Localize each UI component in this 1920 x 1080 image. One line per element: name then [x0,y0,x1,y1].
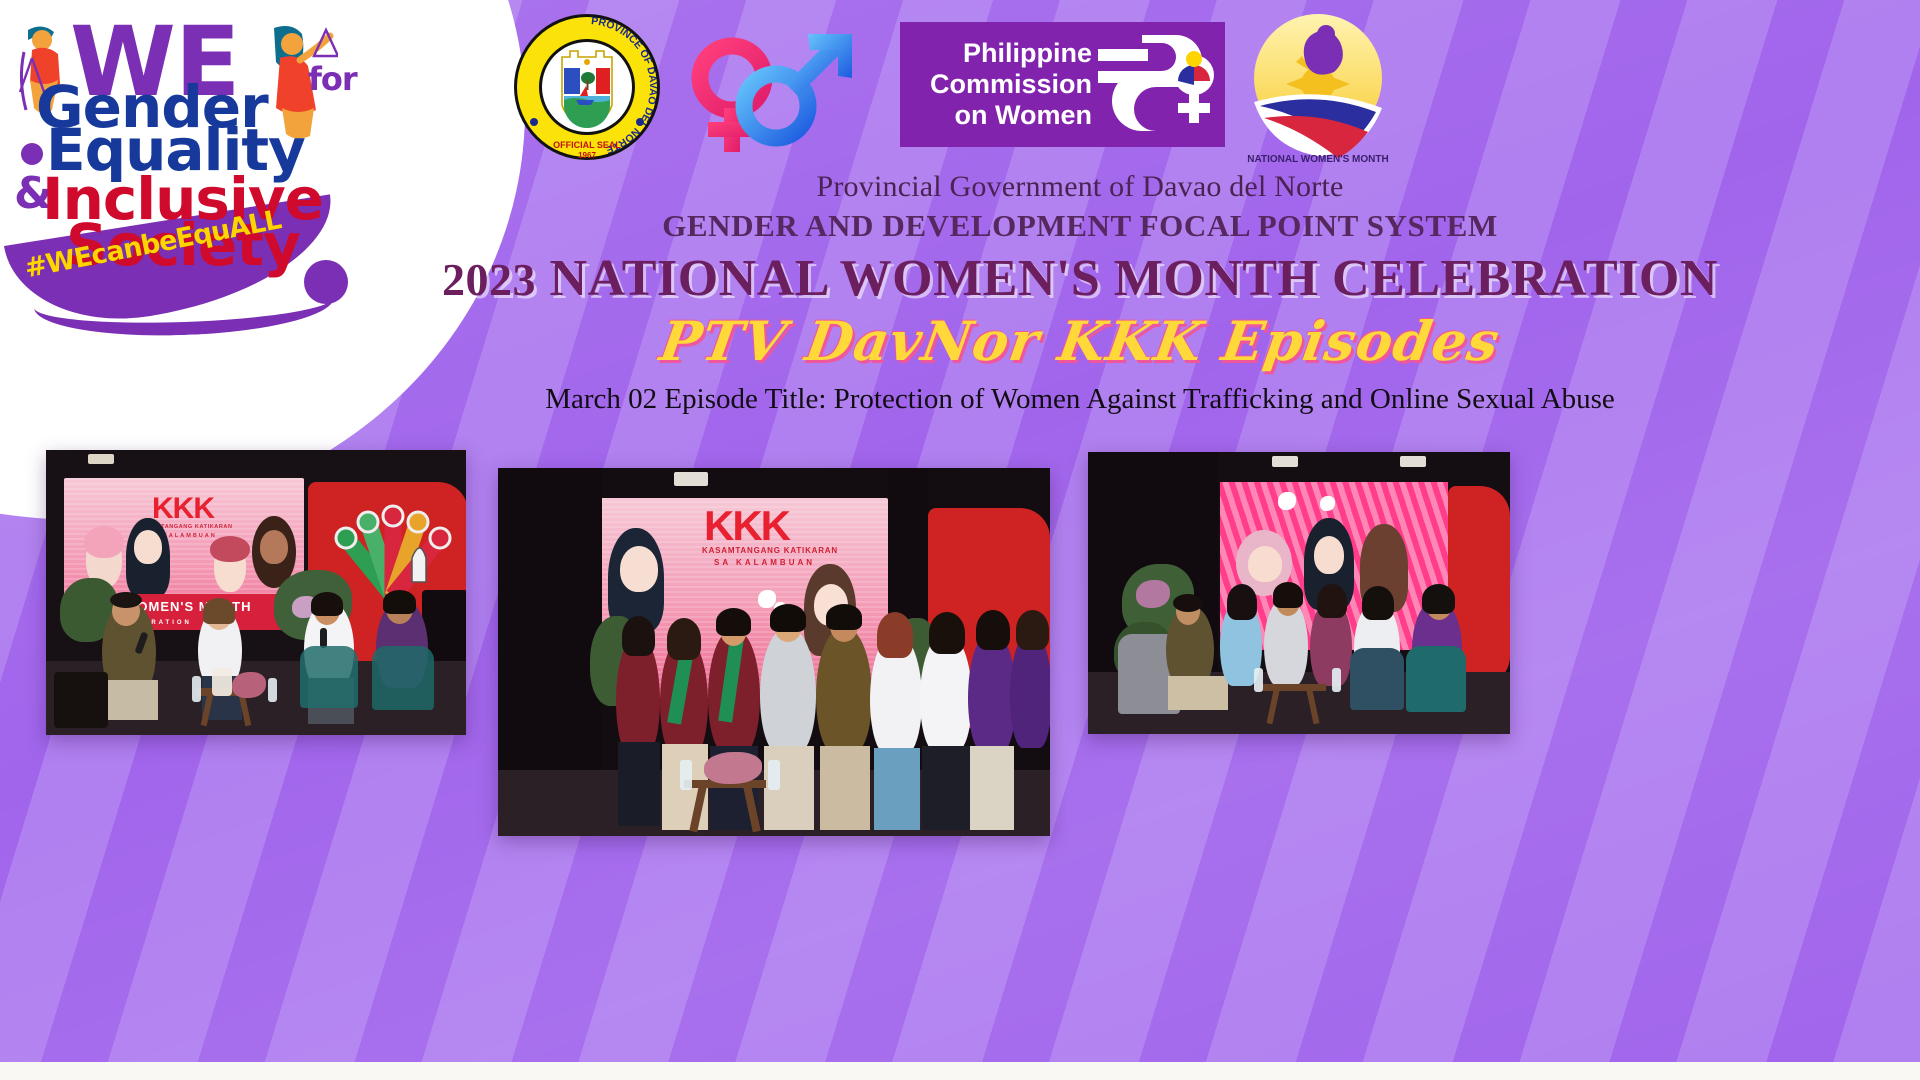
pcw-line-2: Commission [914,69,1092,100]
photo-stage-wide [1088,452,1510,734]
agency-line: Provincial Government of Davao del Norte [300,170,1860,204]
photo-panel-discussion: KKK KASAMTANGANG KATIKARAN SA KALAMBUAN … [46,450,466,735]
logo-word-for: for [308,60,357,98]
davao-del-norte-seal-icon: PROVINCE OF DAVAO DEL NORTE OFFICIAL SEA… [512,12,662,162]
pcw-line-1: Philippine [914,38,1092,69]
p2-backdrop-sub2: SA KALAMBUAN [714,558,815,567]
pcw-mark-icon [1098,31,1218,139]
event-title: NATIONAL WOMEN'S MONTH CELEBRATION [550,250,1718,307]
bottom-cream-strip [0,1062,1920,1080]
pcw-label: Philippine Commission on Women [900,38,1092,130]
episode-title-line: March 02 Episode Title: Protection of Wo… [300,383,1860,416]
unit-line: GENDER AND DEVELOPMENT FOCAL POINT SYSTE… [300,208,1860,244]
p2-backdrop-kkk: KKK [704,502,789,550]
poster-canvas: WE for Gender Equality & Inclusive Socie… [0,0,1920,1080]
national-womens-month-logo-icon: NATIONAL WOMEN'S MONTH [1240,10,1396,170]
philippine-commission-on-women-logo: Philippine Commission on Women [900,22,1225,147]
event-title-line: 2023 NATIONAL WOMEN'S MONTH CELEBRATION [300,252,1860,307]
series-script-title: PTV DavNor KKK Episodes [295,309,1865,373]
svg-text:1967: 1967 [578,151,596,160]
nwm-ribbon-text: NATIONAL WOMEN'S MONTH [1247,154,1388,165]
svg-text:OFFICIAL SEAL: OFFICIAL SEAL [553,140,621,150]
gender-symbols-icon [672,18,862,158]
p1-backdrop-kkk: KKK [152,492,214,526]
p2-backdrop-sub1: KASAMTANGANG KATIKARAN [702,546,838,555]
pcw-line-3: on Women [914,100,1092,131]
photo-group-pose: KKK KASAMTANGANG KATIKARAN SA KALAMBUAN [498,468,1050,836]
headline-block: Provincial Government of Davao del Norte… [300,170,1860,416]
event-year: 2023 [442,254,536,305]
